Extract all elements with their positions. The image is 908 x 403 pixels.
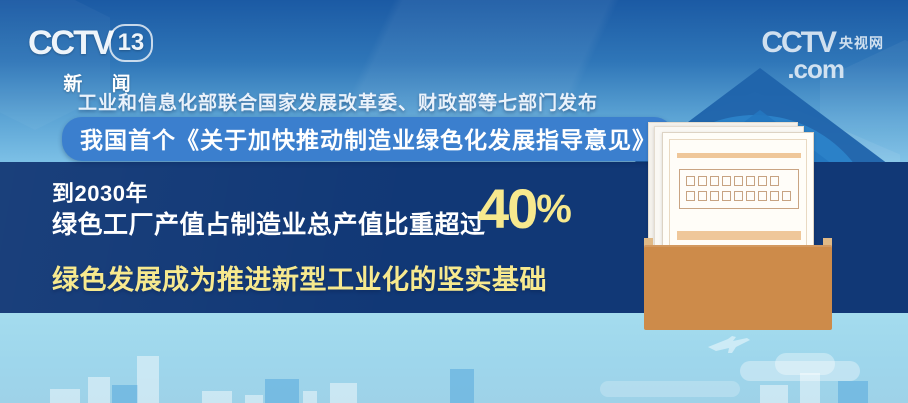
document-text-cell [746,191,755,201]
city-building [88,377,110,403]
percent-number: 40 [478,177,536,240]
document-text-cell [770,191,779,201]
document-text-cell [734,191,743,201]
stat-closing-line: 绿色发展成为推进新型工业化的坚实基础 [52,258,547,297]
cloud-shape [775,353,835,375]
document-text-cell [770,176,779,186]
document-text-cell [734,176,743,186]
city-building [137,356,159,403]
cctv-wordmark: CCTV [28,24,113,62]
percent-symbol: % [536,187,570,231]
document-text-cell [758,176,767,186]
document-text-cell [722,176,731,186]
document-text-cell [710,176,719,186]
city-building [202,391,232,403]
document-text-row-1 [686,176,779,186]
city-building [245,395,263,403]
city-building [303,391,317,403]
city-building [760,385,788,403]
document-text-cell [746,176,755,186]
city-building [112,385,138,403]
stat-percent-highlight: 40% [478,181,570,237]
airplane-icon [706,335,752,355]
document-text-cell [698,176,707,186]
cloud-shape [600,381,740,397]
stat-main-line: 绿色工厂产值占制造业总产值比重超过 [52,205,486,241]
channel-number-badge: 13 [109,24,154,62]
stat-year-line: 到2030年 [52,176,148,208]
cctv-com-logo: CCTV央视网 .com [761,28,884,85]
cctv13-channel-logo: CCTV13 新 闻 [28,26,178,82]
document-text-cell [698,191,707,201]
cctv13-logo-mark: CCTV13 [28,26,178,66]
city-building [330,383,357,403]
document-text-row-2 [686,191,791,201]
city-building [265,379,299,403]
document-text-cell [782,191,791,201]
document-footer-bar [677,231,801,240]
news-graphic-slide: CCTV13 新 闻 CCTV央视网 .com 工业和信息化部联合国家发展改革委… [0,0,908,403]
city-building [838,381,868,403]
city-building [50,389,80,403]
document-text-cell [722,191,731,201]
folder-front-panel [644,245,832,330]
city-building [450,369,474,403]
document-folder-illustration [640,120,855,320]
headline-title-pill: 我国首个《关于加快推动制造业绿色化发展指导意见》 [62,117,674,161]
document-text-cell [686,176,695,186]
document-text-block [679,169,799,209]
document-text-cell [758,191,767,201]
cctvcom-dotcom-suffix: .com [761,54,884,85]
headline-kicker: 工业和信息化部联合国家发展改革委、财政部等七部门发布 [78,88,598,115]
document-text-cell [710,191,719,201]
document-text-cell [686,191,695,201]
document-title-bar [677,153,801,158]
